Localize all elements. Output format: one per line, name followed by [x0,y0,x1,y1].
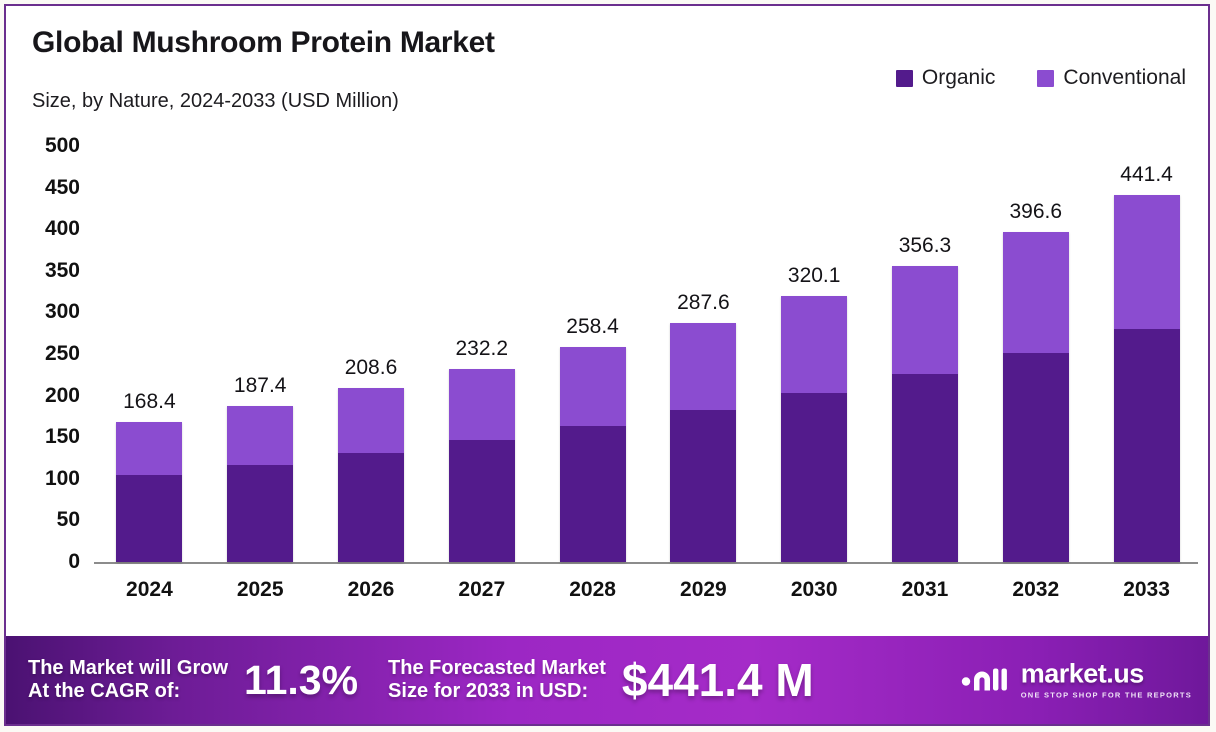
stacked-bar[interactable] [227,406,293,562]
stacked-bar[interactable] [449,369,515,562]
y-axis-tick: 150 [45,425,80,449]
summary-banner: The Market will Grow At the CAGR of: 11.… [6,636,1208,724]
chart-header: Global Mushroom Protein Market Size, by … [6,6,1208,124]
bar-segment-conventional[interactable] [116,422,182,475]
y-axis-tick: 500 [45,134,80,158]
x-axis-label-2030: 2030 [759,578,870,602]
bar-segment-organic[interactable] [338,453,404,562]
bar-group-2024: 168.4 [94,124,205,636]
legend-item-conventional[interactable]: Conventional [1037,66,1186,90]
forecast-block: The Forecasted Market Size for 2033 in U… [388,653,814,707]
y-axis-tick: 450 [45,176,80,200]
x-axis-label-2026: 2026 [316,578,427,602]
chart-legend: OrganicConventional [896,66,1186,90]
forecast-label-line2: Size for 2033 in USD: [388,680,588,702]
x-axis-label-2033: 2033 [1091,578,1202,602]
logo-text: market.us ONE STOP SHOP FOR THE REPORTS [1021,661,1192,700]
x-axis-label-2029: 2029 [648,578,759,602]
bar-segment-conventional[interactable] [1003,232,1069,353]
bar-segment-conventional[interactable] [338,388,404,453]
forecast-label-line1: The Forecasted Market [388,657,606,679]
bar-group-2031: 356.3 [870,124,981,636]
bar-segment-organic[interactable] [1114,329,1180,562]
y-axis-tick: 400 [45,217,80,241]
legend-swatch-icon [896,70,913,87]
bar-segment-organic[interactable] [670,410,736,562]
bar-series-container: 168.4187.4208.6232.2258.4287.6320.1356.3… [94,124,1202,636]
bar-value-label: 356.3 [899,234,952,258]
bar-group-2026: 208.6 [316,124,427,636]
y-axis-tick: 350 [45,259,80,283]
bar-group-2029: 287.6 [648,124,759,636]
y-axis-tick: 0 [68,550,80,574]
x-axis-label-2024: 2024 [94,578,205,602]
bar-segment-conventional[interactable] [1114,195,1180,329]
page-title: Global Mushroom Protein Market [32,26,495,60]
stacked-bar[interactable] [116,422,182,562]
forecast-value: $441.4 M [622,653,814,707]
legend-swatch-icon [1037,70,1054,87]
bar-value-label: 208.6 [345,356,398,380]
logo-name: market.us [1021,661,1144,688]
stacked-bar[interactable] [670,323,736,562]
stacked-bar[interactable] [560,347,626,562]
bar-segment-conventional[interactable] [227,406,293,465]
legend-label: Organic [922,66,996,90]
bar-value-label: 187.4 [234,374,287,398]
logo-tagline: ONE STOP SHOP FOR THE REPORTS [1021,691,1192,700]
chart-subtitle: Size, by Nature, 2024-2033 (USD Million) [32,90,399,113]
y-axis-tick: 50 [57,508,80,532]
bar-segment-conventional[interactable] [449,369,515,440]
bar-group-2033: 441.4 [1091,124,1202,636]
chart-plot-area: 050100150200250300350400450500 168.4187.… [6,124,1208,636]
cagr-label: The Market will Grow At the CAGR of: [28,657,228,703]
bar-segment-conventional[interactable] [670,323,736,410]
legend-label: Conventional [1063,66,1186,90]
bar-group-2028: 258.4 [537,124,648,636]
bar-segment-organic[interactable] [892,374,958,562]
stacked-bar[interactable] [338,388,404,562]
bar-group-2030: 320.1 [759,124,870,636]
bar-value-label: 396.6 [1009,200,1062,224]
cagr-label-line2: At the CAGR of: [28,680,180,702]
cagr-value: 11.3% [244,657,358,704]
stacked-bar[interactable] [781,296,847,562]
bar-segment-organic[interactable] [781,393,847,562]
bar-value-label: 320.1 [788,264,841,288]
stacked-bar[interactable] [892,266,958,562]
bar-segment-organic[interactable] [227,465,293,562]
bar-segment-organic[interactable] [449,440,515,562]
bar-value-label: 258.4 [566,315,619,339]
stacked-bar[interactable] [1003,232,1069,562]
market-us-logo-icon [960,658,1012,703]
bar-segment-conventional[interactable] [560,347,626,426]
legend-item-organic[interactable]: Organic [896,66,996,90]
cagr-label-line1: The Market will Grow [28,657,228,679]
bar-segment-conventional[interactable] [781,296,847,393]
bar-value-label: 168.4 [123,390,176,414]
bar-segment-conventional[interactable] [892,266,958,374]
y-axis-tick: 250 [45,342,80,366]
bar-group-2032: 396.6 [980,124,1091,636]
bar-segment-organic[interactable] [116,475,182,562]
x-axis-labels: 2024202520262027202820292030203120322033 [94,578,1202,602]
bar-segment-organic[interactable] [1003,353,1069,562]
x-axis-label-2032: 2032 [980,578,1091,602]
bar-value-label: 232.2 [456,337,509,361]
x-axis-label-2028: 2028 [537,578,648,602]
bar-value-label: 441.4 [1120,163,1173,187]
x-axis-label-2025: 2025 [205,578,316,602]
y-axis-tick: 100 [45,467,80,491]
bar-value-label: 287.6 [677,291,730,315]
y-axis: 050100150200250300350400450500 [6,124,90,636]
y-axis-tick: 300 [45,300,80,324]
infographic-frame: Global Mushroom Protein Market Size, by … [4,4,1210,726]
bar-group-2027: 232.2 [426,124,537,636]
bar-segment-organic[interactable] [560,426,626,562]
stacked-bar[interactable] [1114,195,1180,562]
x-axis-label-2027: 2027 [426,578,537,602]
y-axis-tick: 200 [45,384,80,408]
cagr-block: The Market will Grow At the CAGR of: 11.… [28,657,358,704]
forecast-label: The Forecasted Market Size for 2033 in U… [388,657,606,703]
x-axis-label-2031: 2031 [870,578,981,602]
market-us-logo[interactable]: market.us ONE STOP SHOP FOR THE REPORTS [960,658,1192,703]
bar-group-2025: 187.4 [205,124,316,636]
